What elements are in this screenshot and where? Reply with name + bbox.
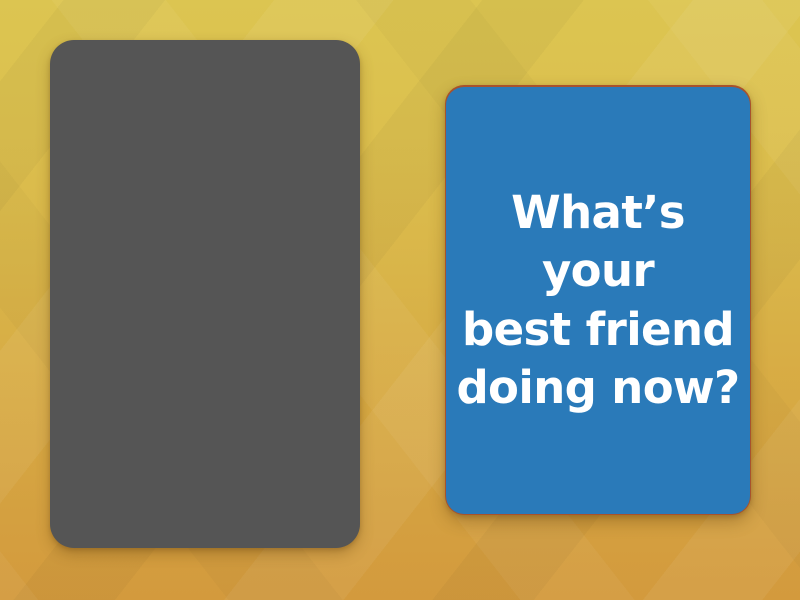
question-card-text: What’s your best friend doing now? [454, 184, 742, 418]
face-down-card[interactable] [50, 40, 360, 548]
question-card[interactable]: What’s your best friend doing now? [446, 87, 750, 514]
activity-stage: What’s your best friend doing now? [0, 0, 800, 600]
